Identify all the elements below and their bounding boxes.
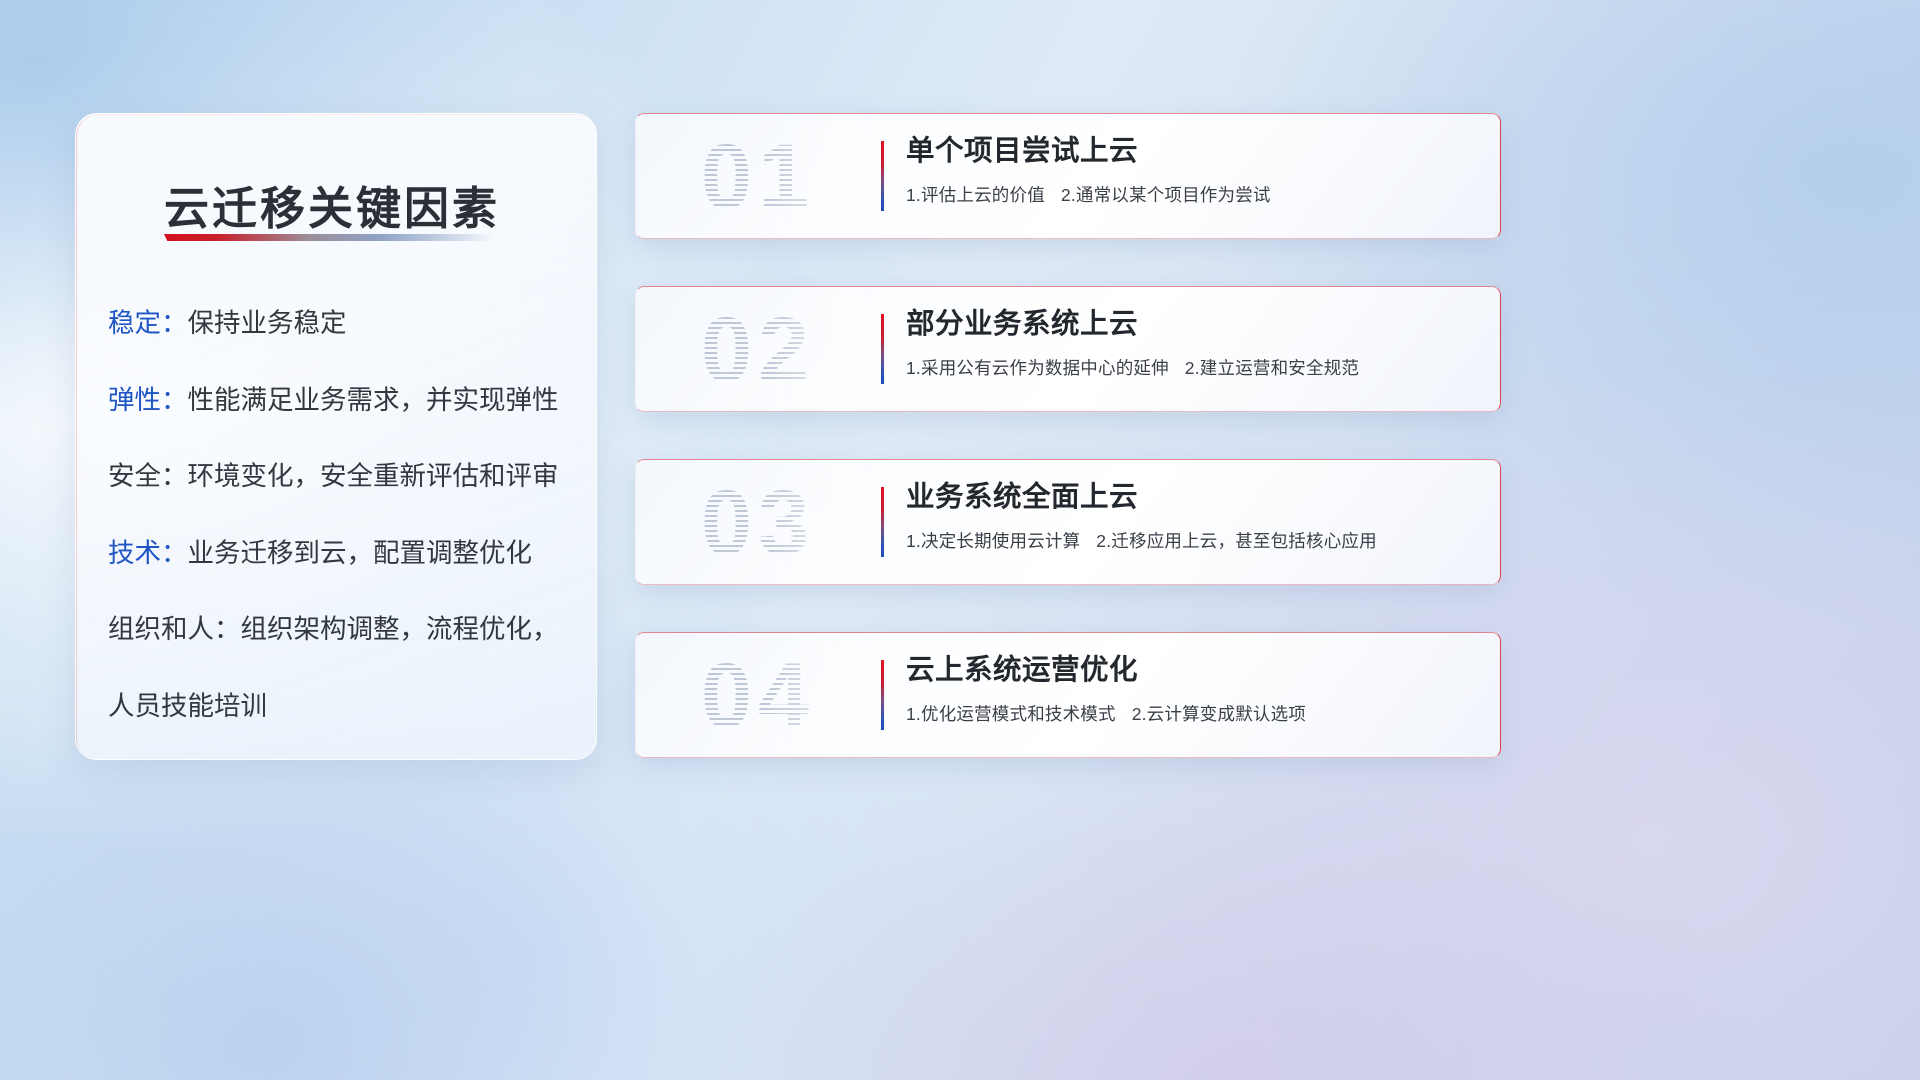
card-description-part-1: 1.采用公有云作为数据中心的延伸 (906, 358, 1169, 378)
list-item-value: 保持业务稳定 (188, 308, 347, 338)
card-description: 1.评估上云的价值2.通常以某个项目作为尝试 (906, 182, 1481, 207)
card-text-block: 业务系统全面上云 1.决定长期使用云计算2.迁移应用上云，甚至包括核心应用 (906, 480, 1481, 553)
card-description-part-1: 1.优化运营模式和技术模式 (906, 704, 1116, 724)
card-description-part-1: 1.评估上云的价值 (906, 185, 1045, 205)
list-item-key: 组织和人： (108, 614, 241, 644)
list-item-value: 业务迁移到云，配置调整优化 (188, 538, 533, 568)
stage-card[interactable]: 04 云上系统运营优化 1.优化运营模式和技术模式2.云计算变成默认选项 (635, 632, 1501, 758)
step-number-ghost: 03 (653, 465, 863, 581)
title-underline-rule (164, 234, 494, 241)
card-description-part-2: 2.云计算变成默认选项 (1132, 704, 1306, 724)
step-number-ghost: 02 (653, 292, 863, 408)
card-divider-rule (881, 487, 884, 557)
card-description-part-2: 2.通常以某个项目作为尝试 (1061, 185, 1271, 205)
list-item-value: 性能满足业务需求，并实现弹性 (188, 385, 559, 415)
list-item-key: 弹性： (108, 385, 188, 415)
card-description: 1.采用公有云作为数据中心的延伸2.建立运营和安全规范 (906, 355, 1481, 380)
list-item-value: 环境变化，安全重新评估和评审 (188, 461, 559, 491)
list-item: 组织和人：组织架构调整，流程优化， (108, 616, 572, 643)
card-description: 1.决定长期使用云计算2.迁移应用上云，甚至包括核心应用 (906, 528, 1481, 553)
step-number-ghost: 01 (653, 119, 863, 235)
card-title: 单个项目尝试上云 (906, 134, 1481, 168)
card-description: 1.优化运营模式和技术模式2.云计算变成默认选项 (906, 701, 1481, 726)
list-item: 安全：环境变化，安全重新评估和评审 (108, 463, 572, 490)
card-text-block: 单个项目尝试上云 1.评估上云的价值2.通常以某个项目作为尝试 (906, 134, 1481, 207)
card-divider-rule (881, 660, 884, 730)
page-title: 云迁移关键因素 (164, 172, 500, 237)
list-item: 弹性：性能满足业务需求，并实现弹性 (108, 387, 572, 414)
card-title: 业务系统全面上云 (906, 480, 1481, 514)
list-item: 技术：业务迁移到云，配置调整优化 (108, 540, 572, 567)
card-text-block: 部分业务系统上云 1.采用公有云作为数据中心的延伸2.建立运营和安全规范 (906, 307, 1481, 380)
card-description-part-2: 2.迁移应用上云，甚至包括核心应用 (1096, 531, 1377, 551)
stage-card[interactable]: 01 单个项目尝试上云 1.评估上云的价值2.通常以某个项目作为尝试 (635, 113, 1501, 239)
list-item-continuation: 人员技能培训 (108, 693, 572, 720)
list-item-value: 组织架构调整，流程优化， (241, 614, 559, 644)
card-divider-rule (881, 141, 884, 211)
card-description-part-1: 1.决定长期使用云计算 (906, 531, 1080, 551)
list-item-key: 稳定： (108, 308, 188, 338)
stage-card[interactable]: 02 部分业务系统上云 1.采用公有云作为数据中心的延伸2.建立运营和安全规范 (635, 286, 1501, 412)
card-title: 部分业务系统上云 (906, 307, 1481, 341)
slide-canvas: 云迁移关键因素 稳定：保持业务稳定 弹性：性能满足业务需求，并实现弹性 安全：环… (0, 0, 1920, 1080)
card-description-part-2: 2.建立运营和安全规范 (1185, 358, 1359, 378)
card-text-block: 云上系统运营优化 1.优化运营模式和技术模式2.云计算变成默认选项 (906, 653, 1481, 726)
card-title: 云上系统运营优化 (906, 653, 1481, 687)
key-factors-list: 稳定：保持业务稳定 弹性：性能满足业务需求，并实现弹性 安全：环境变化，安全重新… (108, 310, 572, 719)
list-item: 稳定：保持业务稳定 (108, 310, 572, 337)
key-factors-panel: 云迁移关键因素 稳定：保持业务稳定 弹性：性能满足业务需求，并实现弹性 安全：环… (75, 113, 597, 760)
list-item-value: 人员技能培训 (108, 691, 267, 721)
step-number-ghost: 04 (653, 638, 863, 754)
list-item-key: 技术： (108, 538, 188, 568)
list-item-key: 安全： (108, 461, 188, 491)
card-divider-rule (881, 314, 884, 384)
stage-card[interactable]: 03 业务系统全面上云 1.决定长期使用云计算2.迁移应用上云，甚至包括核心应用 (635, 459, 1501, 585)
